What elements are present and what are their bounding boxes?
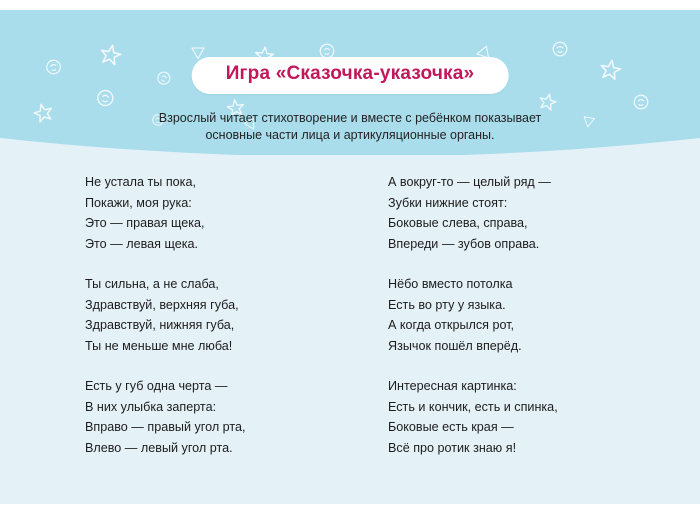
poem-line: Боковые есть края — bbox=[388, 417, 640, 438]
poem-line: Здравствуй, нижняя губа, bbox=[85, 315, 320, 336]
poem-line: Это — левая щека. bbox=[85, 234, 320, 255]
poem-line: Вправо — правый угол рта, bbox=[85, 417, 320, 438]
poem-line: Не устала ты пока, bbox=[85, 172, 320, 193]
poem-area: Не устала ты пока, Покажи, моя рука: Это… bbox=[0, 172, 700, 458]
poem-column-left: Не устала ты пока, Покажи, моя рука: Это… bbox=[0, 172, 320, 458]
poem-line: Боковые слева, справа, bbox=[388, 213, 640, 234]
poem-line: Язычок пошёл вперёд. bbox=[388, 336, 640, 357]
stanza: Нёбо вместо потолка Есть во рту у языка.… bbox=[388, 274, 640, 356]
stanza: Ты сильна, а не слаба, Здравствуй, верхн… bbox=[85, 274, 320, 356]
poem-line: Есть во рту у языка. bbox=[388, 295, 640, 316]
poem-line: В них улыбка заперта: bbox=[85, 397, 320, 418]
subtitle-line: Взрослый читает стихотворение и вместе с… bbox=[0, 110, 700, 127]
poem-line: Есть у губ одна черта — bbox=[85, 376, 320, 397]
poem-line: Интересная картинка: bbox=[388, 376, 640, 397]
poem-line: Здравствуй, верхняя губа, bbox=[85, 295, 320, 316]
poem-line: Это — правая щека, bbox=[85, 213, 320, 234]
poem-line: Есть и кончик, есть и спинка, bbox=[388, 397, 640, 418]
poem-line: Ты не меньше мне люба! bbox=[85, 336, 320, 357]
poster-page: Игра «Сказочка-указочка» Взрослый читает… bbox=[0, 0, 700, 514]
subtitle-line: основные части лица и артикуляционные ор… bbox=[0, 127, 700, 144]
poem-line: Ты сильна, а не слаба, bbox=[85, 274, 320, 295]
poem-line: Покажи, моя рука: bbox=[85, 193, 320, 214]
poem-line: Всё про ротик знаю я! bbox=[388, 438, 640, 459]
title-pill: Игра «Сказочка-указочка» bbox=[192, 57, 509, 94]
page-title: Игра «Сказочка-указочка» bbox=[226, 64, 475, 85]
stanza: Не устала ты пока, Покажи, моя рука: Это… bbox=[85, 172, 320, 254]
poem-column-right: А вокруг-то — целый ряд — Зубки нижние с… bbox=[320, 172, 640, 458]
poem-line: А вокруг-то — целый ряд — bbox=[388, 172, 640, 193]
poem-line: Зубки нижние стоят: bbox=[388, 193, 640, 214]
poem-line: Нёбо вместо потолка bbox=[388, 274, 640, 295]
poem-line: Влево — левый угол рта. bbox=[85, 438, 320, 459]
subtitle: Взрослый читает стихотворение и вместе с… bbox=[0, 110, 700, 144]
stanza: Есть у губ одна черта — В них улыбка зап… bbox=[85, 376, 320, 458]
stanza: Интересная картинка: Есть и кончик, есть… bbox=[388, 376, 640, 458]
stanza: А вокруг-то — целый ряд — Зубки нижние с… bbox=[388, 172, 640, 254]
poem-line: Впереди — зубов оправа. bbox=[388, 234, 640, 255]
poem-line: А когда открылся рот, bbox=[388, 315, 640, 336]
